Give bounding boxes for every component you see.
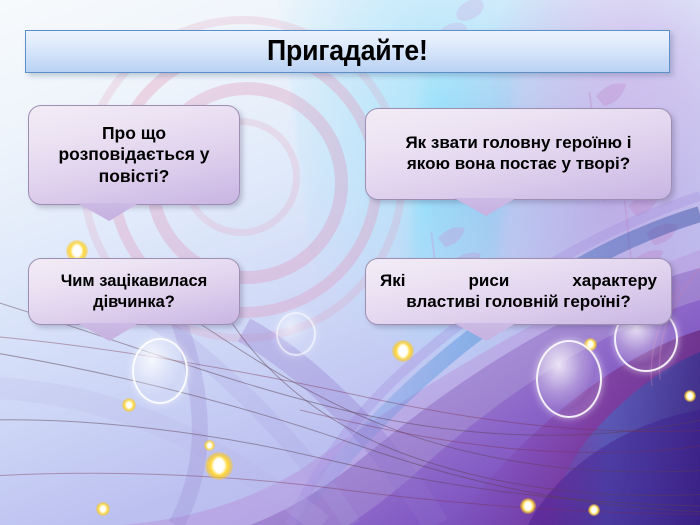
ribbon-magenta	[452, 330, 700, 525]
question-4-line-1: Які риси характеру	[380, 271, 657, 290]
question-1-line-2: розповідається у	[58, 144, 209, 164]
translucent-bubble-4	[276, 312, 316, 356]
translucent-bubble-1	[132, 338, 188, 404]
question-3-line-2: дівчинка?	[93, 293, 175, 311]
ribbon-hook	[170, 300, 200, 525]
bubble-tail-4	[454, 323, 516, 341]
question-bubble-2[interactable]: Як звати головну героїню і якою вона пос…	[365, 108, 672, 200]
glow-dot-8	[520, 498, 536, 514]
ribbon-bottom-left	[0, 388, 322, 525]
question-2-line-2: якою вона постає у творі?	[407, 154, 630, 173]
filament-4	[0, 420, 700, 506]
question-text-3: Чим зацікавилася дівчинка?	[29, 271, 239, 311]
question-2-line-1: Як звати головну героїню і	[405, 133, 631, 152]
filament-5	[230, 320, 700, 495]
presentation-slide: Пригадайте! Про що розповідається у пові…	[0, 0, 700, 525]
glow-dot-10	[588, 504, 600, 516]
glow-dot-5	[392, 340, 414, 362]
ribbon-blue-streak	[546, 352, 700, 525]
bubble-tail-3	[77, 323, 139, 341]
filament-2	[0, 352, 700, 512]
glow-dot-4	[205, 452, 233, 480]
question-bubble-1[interactable]: Про що розповідається у повісті?	[28, 105, 240, 205]
bubble-tail-1	[77, 203, 139, 221]
ribbon-dark-core	[528, 410, 700, 525]
glow-dot-9	[96, 502, 110, 516]
bubble-tail-2	[454, 198, 516, 216]
title-banner: Пригадайте!	[25, 30, 670, 73]
page-title: Пригадайте!	[267, 35, 428, 68]
ribbon-left-sweep	[244, 330, 436, 525]
question-text-4: Які риси характеру властиві головній гер…	[366, 271, 671, 312]
question-1-line-3: повісті?	[99, 166, 170, 186]
question-3-line-1: Чим зацікавилася	[61, 272, 208, 290]
glow-dot-3	[204, 440, 215, 451]
question-text-1: Про що розповідається у повісті?	[29, 123, 239, 187]
filament-rose-1	[0, 336, 700, 432]
question-bubble-4[interactable]: Які риси характеру властиві головній гер…	[365, 258, 672, 325]
question-text-2: Як звати головну героїню і якою вона пос…	[366, 133, 671, 174]
question-bubble-3[interactable]: Чим зацікавилася дівчинка?	[28, 258, 240, 325]
glow-dot-7	[684, 390, 696, 402]
ribbon-deep-violet	[348, 300, 700, 525]
question-1-line-1: Про що	[102, 123, 166, 143]
translucent-bubble-2	[536, 340, 602, 418]
filament-rose-3	[0, 473, 700, 514]
ribbon-lilac-line	[290, 196, 700, 525]
filament-rose-2	[300, 410, 700, 453]
glow-dot-2	[122, 398, 136, 412]
question-4-line-2: властиві головній героїні?	[380, 292, 657, 313]
ribbon-left-sweep-2	[120, 300, 352, 525]
glow-dot-6	[584, 338, 597, 351]
